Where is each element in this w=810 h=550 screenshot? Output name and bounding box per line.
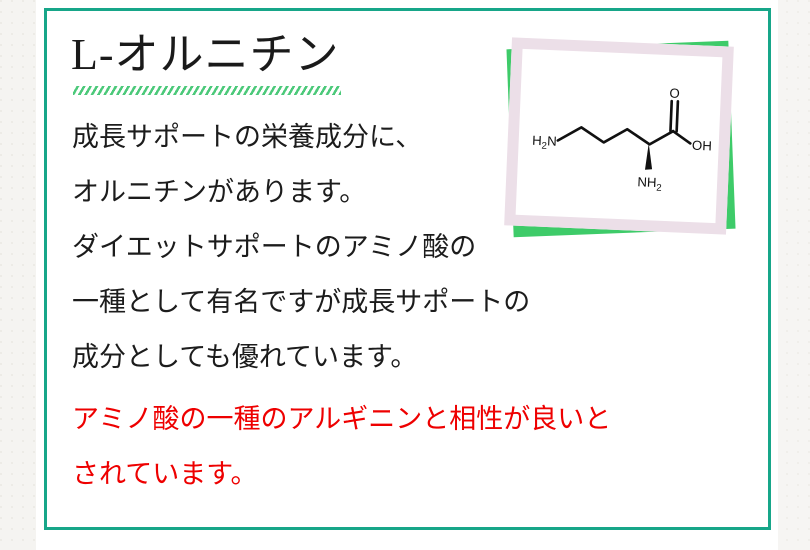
label-carbonyl-o: O	[669, 85, 680, 100]
label-h2n: H2N	[532, 133, 557, 153]
page-title: L-オルニチン	[71, 33, 340, 77]
page-root: L-オルニチン 成長サポートの栄養成分に、 オルニチンがあります。 ダイエットサ…	[0, 0, 810, 550]
label-nh2: NH2	[637, 174, 662, 194]
highlight-line: されています。	[72, 447, 722, 502]
body-line: 一種として有名ですが成長サポートの	[72, 275, 672, 330]
label-oh: OH	[692, 138, 712, 154]
ornithine-structure-icon: H2N O OH NH2	[516, 49, 723, 223]
body-line: 成分としても優れています。	[72, 330, 672, 385]
photo-frame: H2N O OH NH2	[504, 37, 734, 234]
molecule-photo: H2N O OH NH2	[502, 31, 752, 246]
highlight-line: アミノ酸の一種のアルギニンと相性が良いと	[72, 392, 722, 447]
content-card: L-オルニチン 成長サポートの栄養成分に、 オルニチンがあります。 ダイエットサ…	[44, 8, 771, 530]
title-underline-decoration	[73, 86, 341, 95]
highlight-paragraph: アミノ酸の一種のアルギニンと相性が良いと されています。	[72, 392, 722, 502]
